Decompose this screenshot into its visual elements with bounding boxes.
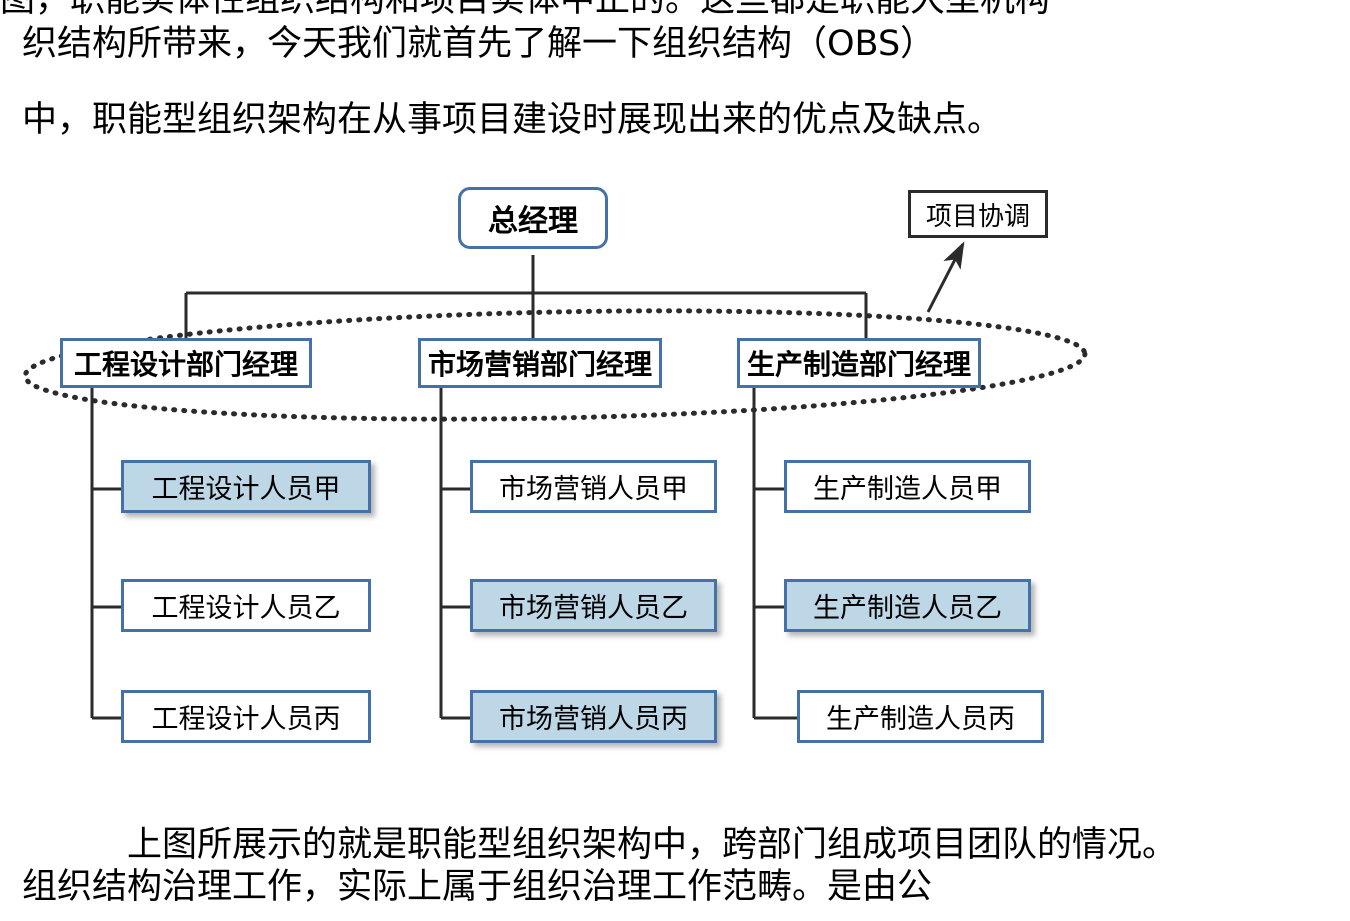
node-manager-engineering[interactable]: 工程设计部门经理	[60, 338, 312, 388]
node-manager-production[interactable]: 生产制造部门经理	[737, 338, 981, 388]
node-staff-engineering-2-label: 工程设计人员乙	[152, 586, 341, 625]
paragraph-top-clipped: 图，职能实体性组织结构和项目实体中止的。这些都是职能大型机构	[0, 0, 1050, 22]
node-staff-marketing-3[interactable]: 市场营销人员丙	[470, 690, 717, 743]
node-staff-production-3[interactable]: 生产制造人员丙	[797, 690, 1044, 743]
node-staff-engineering-3-label: 工程设计人员丙	[152, 697, 341, 736]
node-staff-engineering-1-label: 工程设计人员甲	[152, 467, 341, 506]
node-staff-production-1[interactable]: 生产制造人员甲	[784, 460, 1031, 513]
node-manager-marketing-label: 市场营销部门经理	[428, 343, 652, 383]
node-staff-marketing-2[interactable]: 市场营销人员乙	[470, 579, 717, 632]
node-staff-production-2-label: 生产制造人员乙	[813, 586, 1002, 625]
node-staff-production-3-label: 生产制造人员丙	[826, 697, 1015, 736]
node-general-manager[interactable]: 总经理	[458, 187, 608, 249]
connector-callout-arrow	[928, 244, 963, 312]
node-staff-engineering-1[interactable]: 工程设计人员甲	[121, 460, 371, 513]
org-chart-diagram: 总经理 项目协调 工程设计部门经理 市场营销部门经理 生产制造部门经理 工程设计…	[0, 165, 1350, 795]
node-manager-marketing[interactable]: 市场营销部门经理	[418, 338, 662, 388]
node-staff-engineering-2[interactable]: 工程设计人员乙	[121, 579, 371, 632]
node-manager-engineering-label: 工程设计部门经理	[74, 343, 298, 383]
paragraph-closing-1: 上图所展示的就是职能型组织架构中，跨部门组成项目团队的情况。	[22, 823, 1177, 867]
node-staff-marketing-1[interactable]: 市场营销人员甲	[470, 460, 717, 513]
node-staff-production-2[interactable]: 生产制造人员乙	[784, 579, 1031, 632]
paragraph-closing-2: 组织结构治理工作，实际上属于组织治理工作范畴。是由公	[22, 865, 932, 909]
node-staff-marketing-2-label: 市场营销人员乙	[499, 586, 688, 625]
node-project-coordination-label: 项目协调	[926, 196, 1030, 233]
node-staff-production-1-label: 生产制造人员甲	[813, 467, 1002, 506]
node-staff-marketing-3-label: 市场营销人员丙	[499, 697, 688, 736]
node-project-coordination-callout[interactable]: 项目协调	[908, 190, 1048, 238]
paragraph-intro: 中，职能型组织架构在从事项目建设时展现出来的优点及缺点。	[22, 98, 1002, 142]
node-manager-production-label: 生产制造部门经理	[747, 343, 971, 383]
node-staff-engineering-3[interactable]: 工程设计人员丙	[121, 690, 371, 743]
node-staff-marketing-1-label: 市场营销人员甲	[499, 467, 688, 506]
node-general-manager-label: 总经理	[488, 196, 578, 240]
paragraph-top-line-2: 织结构所带来，今天我们就首先了解一下组织结构（OBS）	[22, 22, 935, 66]
